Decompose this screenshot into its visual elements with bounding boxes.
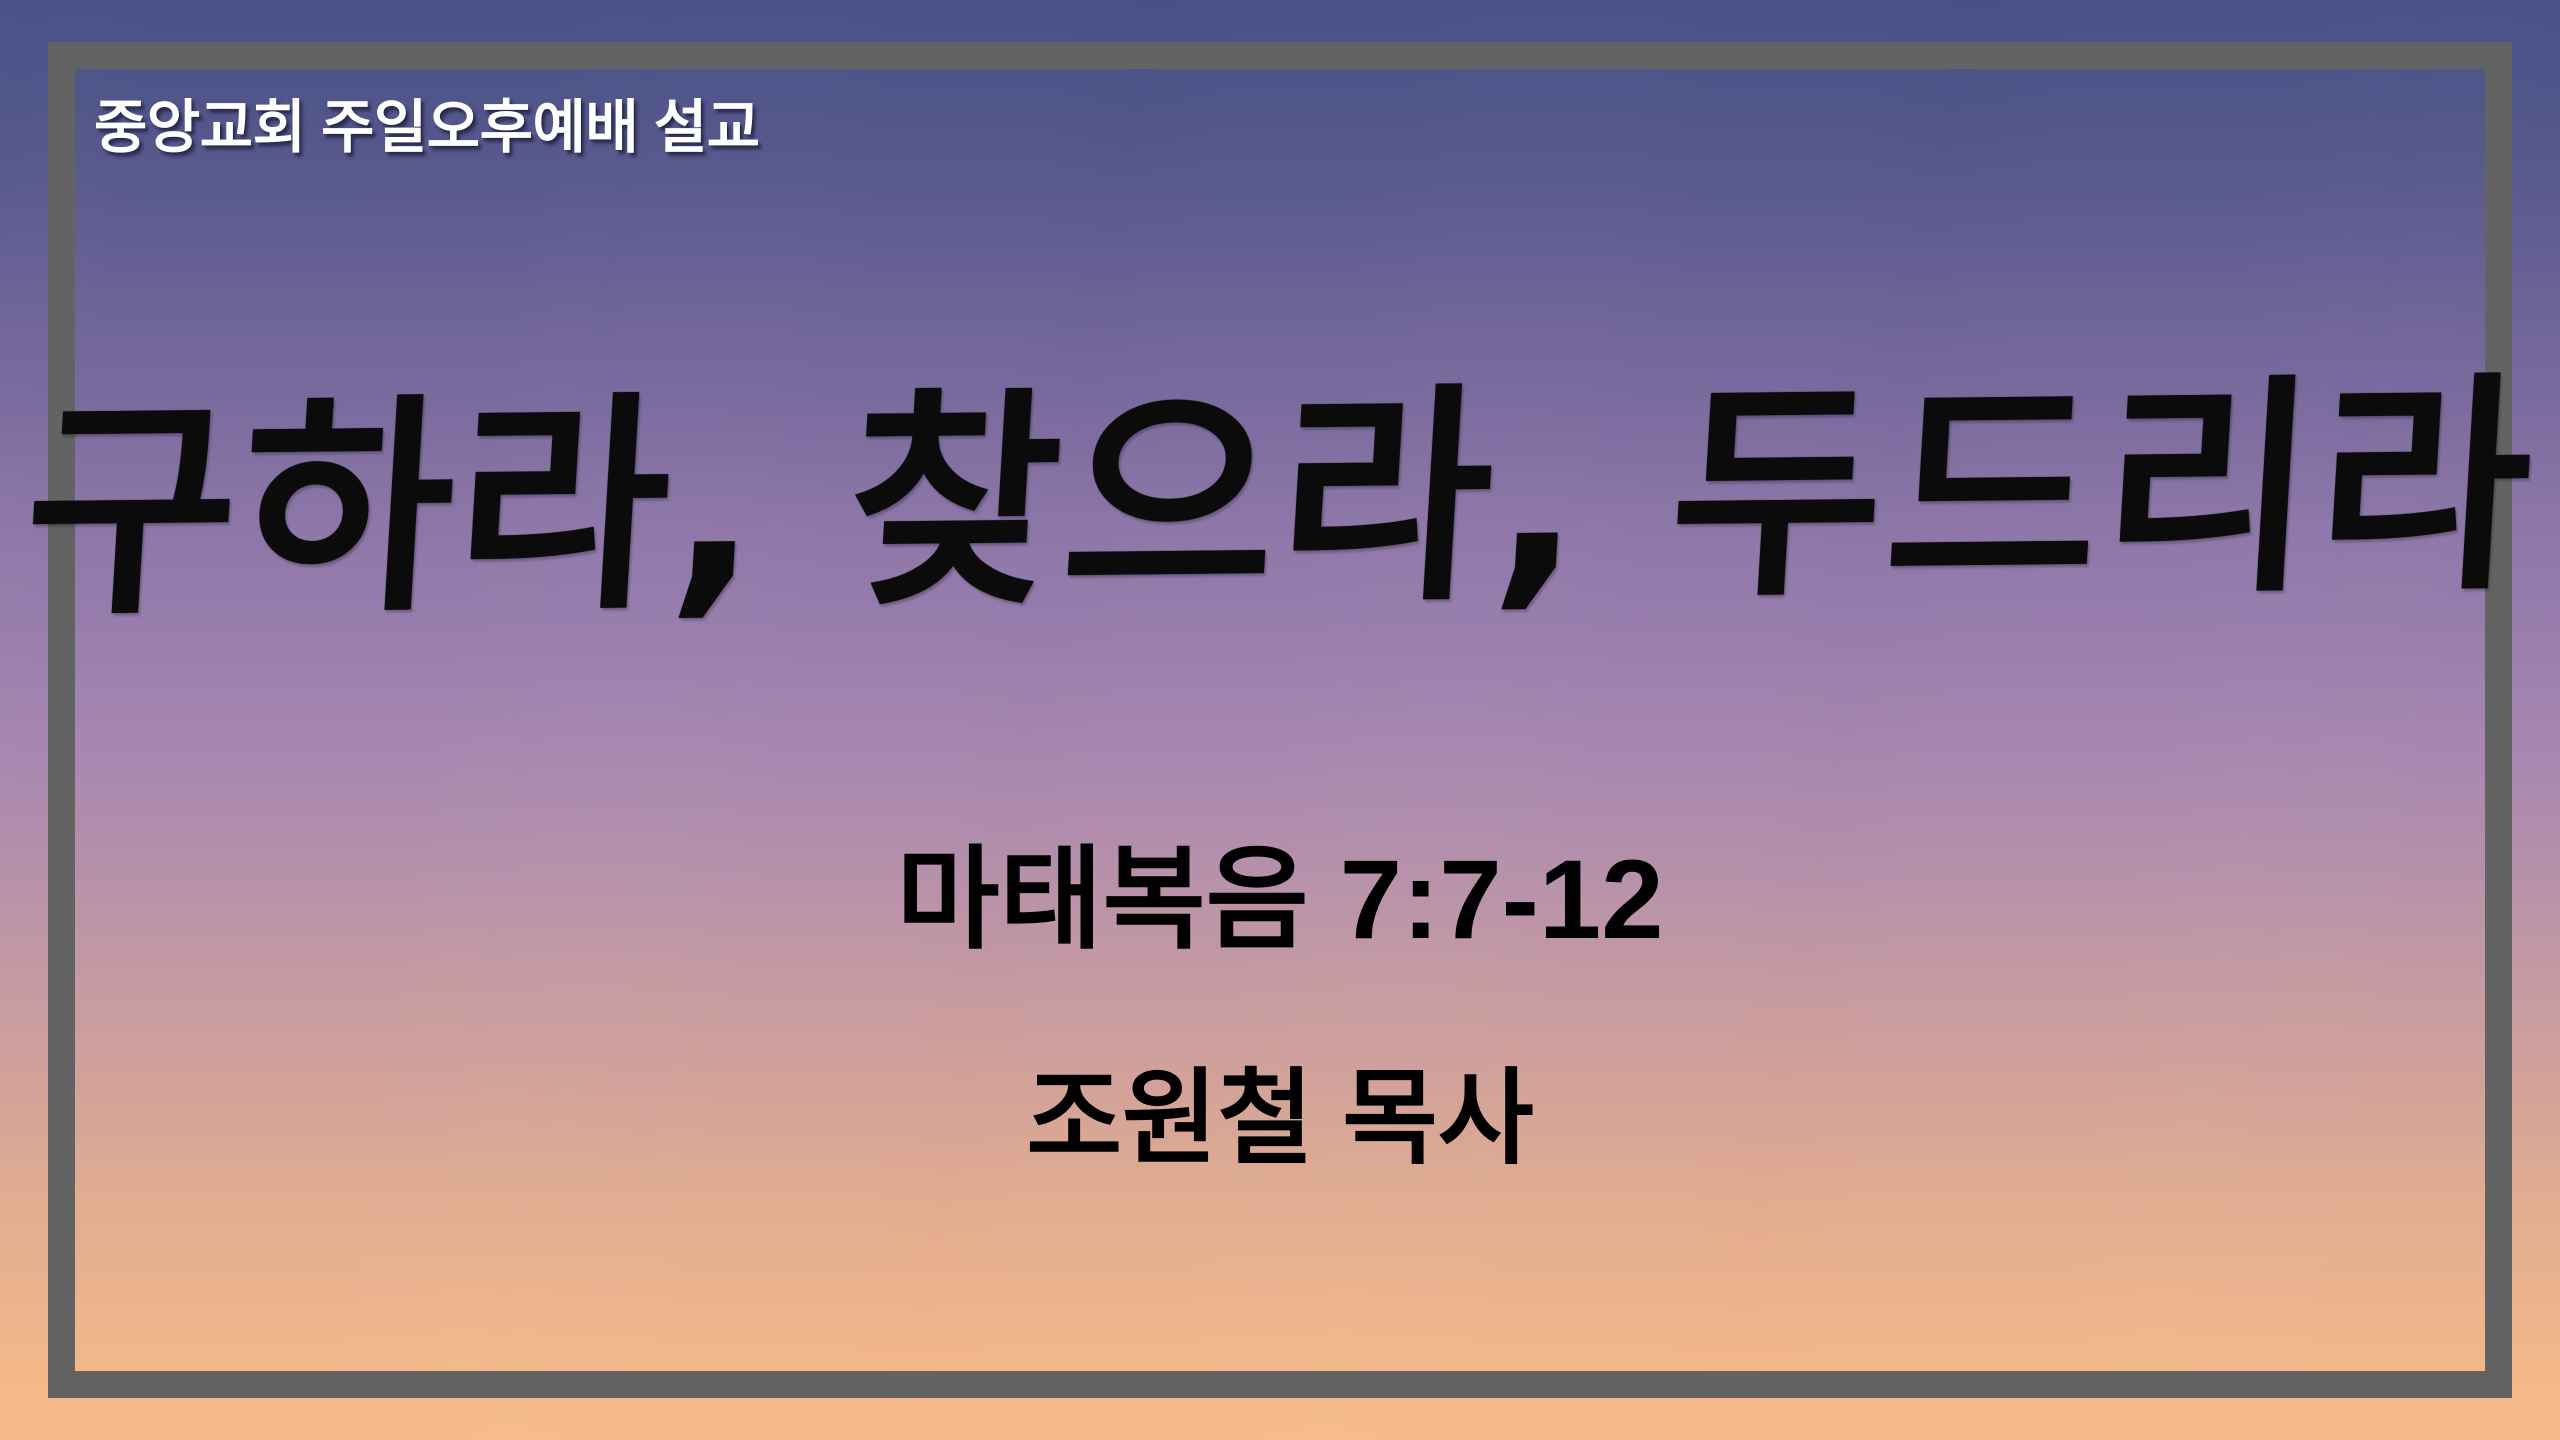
speaker-name: 조원철 목사 — [0, 1062, 2560, 1176]
sermon-title: 구하라, 찾으라, 두드리라 — [0, 359, 2560, 643]
sermon-title-slide: 중앙교회 주일오후예배 설교 구하라, 찾으라, 두드리라 마태복음 7:7-1… — [0, 0, 2560, 1440]
service-header-label: 중앙교회 주일오후예배 설교 — [94, 98, 760, 159]
scripture-reference: 마태복음 7:7-12 — [0, 838, 2560, 961]
slide-content: 중앙교회 주일오후예배 설교 구하라, 찾으라, 두드리라 마태복음 7:7-1… — [0, 0, 2560, 1440]
